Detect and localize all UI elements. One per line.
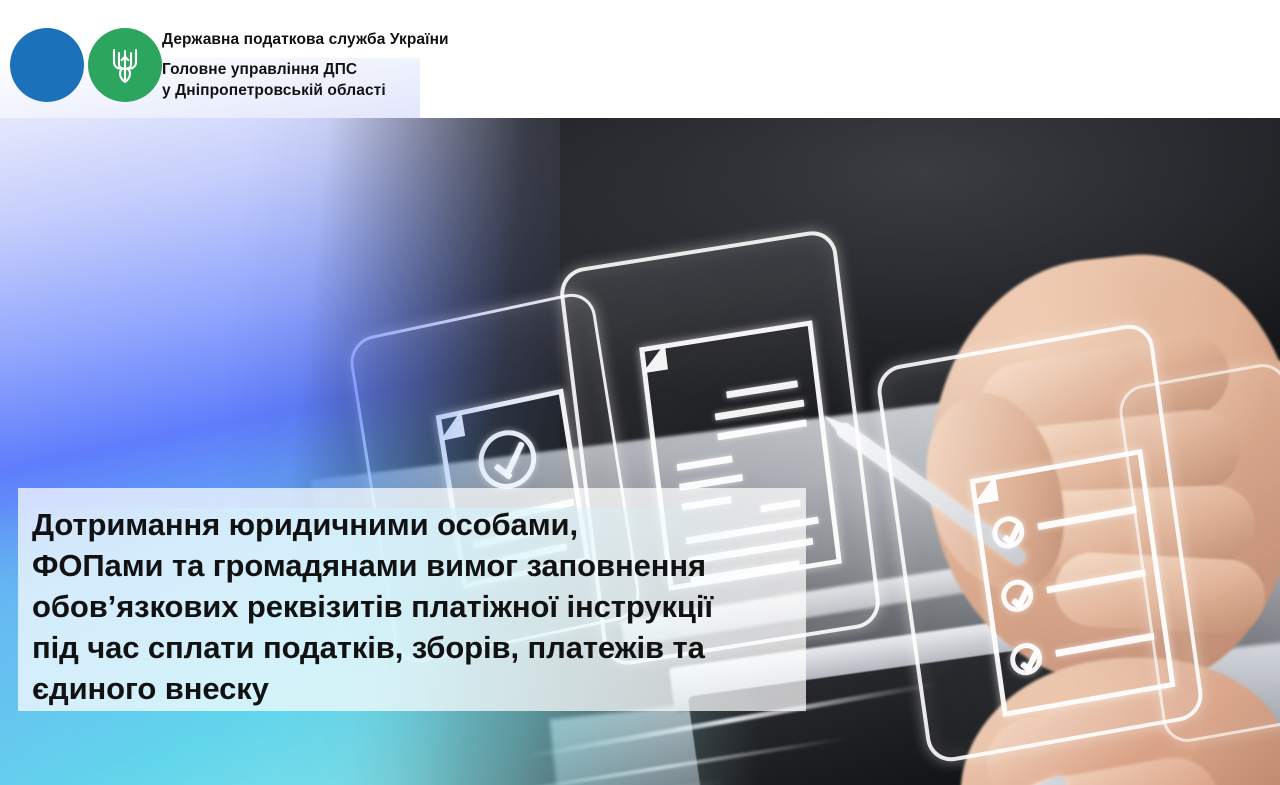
site-header: Державна податкова служба України Головн… bbox=[0, 0, 1280, 118]
document-line bbox=[717, 419, 807, 440]
brand-text: Державна податкова служба України Головн… bbox=[162, 16, 449, 101]
document-line bbox=[715, 399, 805, 420]
document-line bbox=[1046, 569, 1146, 593]
document-line bbox=[1037, 506, 1137, 530]
organization-name: Державна податкова служба України bbox=[162, 30, 449, 50]
logo-blue-circle-icon bbox=[10, 28, 84, 102]
ukraine-trident-icon bbox=[108, 44, 142, 86]
check-circle-icon bbox=[1008, 641, 1044, 678]
document-line bbox=[677, 455, 733, 471]
department-line-2: у Дніпропетровській області bbox=[162, 80, 449, 101]
department-name: Головне управління ДПС у Дніпропетровськ… bbox=[162, 59, 449, 101]
document-line bbox=[1055, 633, 1155, 657]
logo-green-circle-icon bbox=[88, 28, 162, 102]
poster-page: Державна податкова служба України Головн… bbox=[0, 0, 1280, 785]
department-line-1: Головне управління ДПС bbox=[162, 59, 449, 80]
caption-text: Дотримання юридичними особами, ФОПами та… bbox=[32, 504, 792, 709]
brand-block[interactable]: Державна податкова служба України Головн… bbox=[10, 16, 449, 102]
document-line bbox=[726, 380, 798, 398]
hero-banner: Дотримання юридичними особами, ФОПами та… bbox=[0, 118, 1280, 785]
check-circle-icon bbox=[999, 577, 1035, 614]
logo[interactable] bbox=[10, 16, 162, 102]
caption-overlay: Дотримання юридичними особами, ФОПами та… bbox=[18, 488, 806, 711]
check-circle-icon bbox=[990, 514, 1026, 551]
